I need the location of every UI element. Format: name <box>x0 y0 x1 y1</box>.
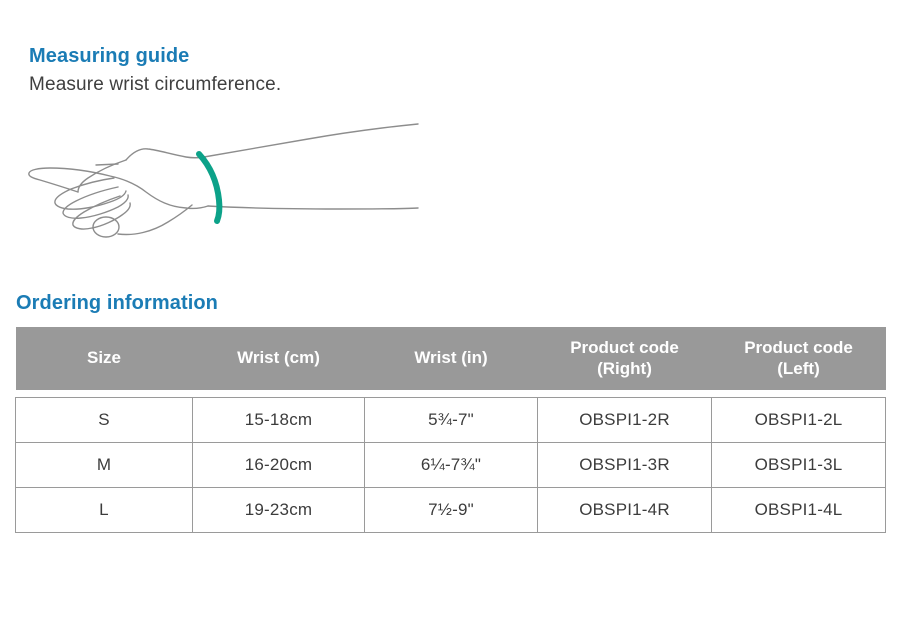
column-header-wrist-cm: Wrist (cm) <box>193 327 365 390</box>
column-header-product-code-right-line1: Product code <box>570 338 679 357</box>
cell-size: M <box>16 443 193 488</box>
table-row: M 16-20cm 6¼-7¾" OBSPI1-3R OBSPI1-3L <box>16 443 886 488</box>
column-header-product-code-left-line2: (Left) <box>777 359 819 378</box>
table-header-gap <box>16 390 886 398</box>
ordering-information-heading: Ordering information <box>16 292 218 315</box>
cell-size: S <box>16 398 193 443</box>
table-header-gap-cell <box>193 390 365 398</box>
table-header-gap-cell <box>538 390 712 398</box>
cell-product-code-left: OBSPI1-2L <box>712 398 886 443</box>
table-row: S 15-18cm 5¾-7" OBSPI1-2R OBSPI1-2L <box>16 398 886 443</box>
cell-product-code-right: OBSPI1-2R <box>538 398 712 443</box>
column-header-product-code-right-line2: (Right) <box>597 359 652 378</box>
arm-outline <box>29 124 418 237</box>
table-row: L 19-23cm 7½-9" OBSPI1-4R OBSPI1-4L <box>16 488 886 533</box>
cell-size: L <box>16 488 193 533</box>
column-header-product-code-left: Product code (Left) <box>712 327 886 390</box>
ordering-table: Size Wrist (cm) Wrist (in) Product code … <box>15 327 886 533</box>
ordering-table-container: Size Wrist (cm) Wrist (in) Product code … <box>15 327 885 533</box>
ordering-table-body: S 15-18cm 5¾-7" OBSPI1-2R OBSPI1-2L M 16… <box>16 398 886 533</box>
cell-wrist-in: 7½-9" <box>365 488 538 533</box>
column-header-size-line1: Size <box>87 348 121 367</box>
cell-product-code-right: OBSPI1-4R <box>538 488 712 533</box>
cell-product-code-right: OBSPI1-3R <box>538 443 712 488</box>
ordering-table-header: Size Wrist (cm) Wrist (in) Product code … <box>16 327 886 398</box>
table-header-gap-cell <box>712 390 886 398</box>
cell-product-code-left: OBSPI1-3L <box>712 443 886 488</box>
measuring-band <box>199 154 219 221</box>
table-header-gap-cell <box>365 390 538 398</box>
column-header-product-code-right: Product code (Right) <box>538 327 712 390</box>
cell-wrist-cm: 15-18cm <box>193 398 365 443</box>
column-header-wrist-cm-line1: Wrist (cm) <box>237 348 320 367</box>
cell-product-code-left: OBSPI1-4L <box>712 488 886 533</box>
column-header-wrist-in-line1: Wrist (in) <box>414 348 487 367</box>
cell-wrist-in: 5¾-7" <box>365 398 538 443</box>
table-header-gap-cell <box>16 390 193 398</box>
cell-wrist-in: 6¼-7¾" <box>365 443 538 488</box>
hand-and-wrist-illustration <box>18 108 438 243</box>
measuring-guide-heading: Measuring guide <box>29 45 189 68</box>
column-header-size: Size <box>16 327 193 390</box>
table-header-row: Size Wrist (cm) Wrist (in) Product code … <box>16 327 886 390</box>
measuring-guide-description: Measure wrist circumference. <box>29 74 281 96</box>
cell-wrist-cm: 19-23cm <box>193 488 365 533</box>
column-header-wrist-in: Wrist (in) <box>365 327 538 390</box>
column-header-product-code-left-line1: Product code <box>744 338 853 357</box>
cell-wrist-cm: 16-20cm <box>193 443 365 488</box>
